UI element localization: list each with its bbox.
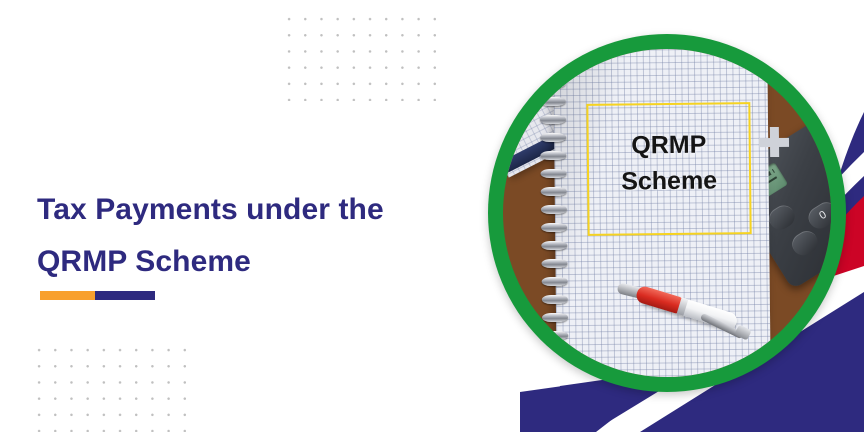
page-title: Tax Payments under the QRMP Scheme (37, 184, 457, 288)
spiral-coil (539, 49, 565, 52)
spiral-coil (541, 223, 567, 232)
hero-circle-image: 0 (488, 34, 846, 392)
plus-icon (759, 127, 789, 157)
photo-caption: QRMP Scheme (587, 126, 752, 200)
spiral-coil (540, 115, 566, 124)
spiral-coil (540, 133, 566, 142)
accent-underline (40, 291, 155, 300)
banner-root: Tax Payments under the QRMP Scheme 0 (0, 0, 864, 432)
spiral-coil (541, 241, 567, 250)
spiral-coil (542, 277, 568, 286)
spiral-coil (541, 187, 567, 196)
calculator-key (765, 201, 799, 233)
calculator-key-label: 0 (804, 198, 831, 233)
spiral-coil (542, 331, 568, 340)
spiral-coil (542, 349, 568, 358)
spiral-coil (540, 169, 566, 178)
spiral-coil (540, 79, 566, 88)
spiral-coil (542, 313, 568, 322)
spiral-coil (542, 295, 568, 304)
spiral-coil (540, 97, 566, 106)
accent-segment-navy (95, 291, 155, 300)
spiral-coil (539, 61, 565, 70)
spiral-coil (540, 151, 566, 160)
spiral-coil (541, 205, 567, 214)
accent-segment-orange (40, 291, 95, 300)
spiral-coil (541, 259, 567, 268)
calculator-key-zero: 0 (804, 198, 831, 233)
spiral-coil (543, 367, 569, 376)
spiral-binding (539, 49, 569, 377)
photo-clip: 0 (503, 49, 831, 377)
